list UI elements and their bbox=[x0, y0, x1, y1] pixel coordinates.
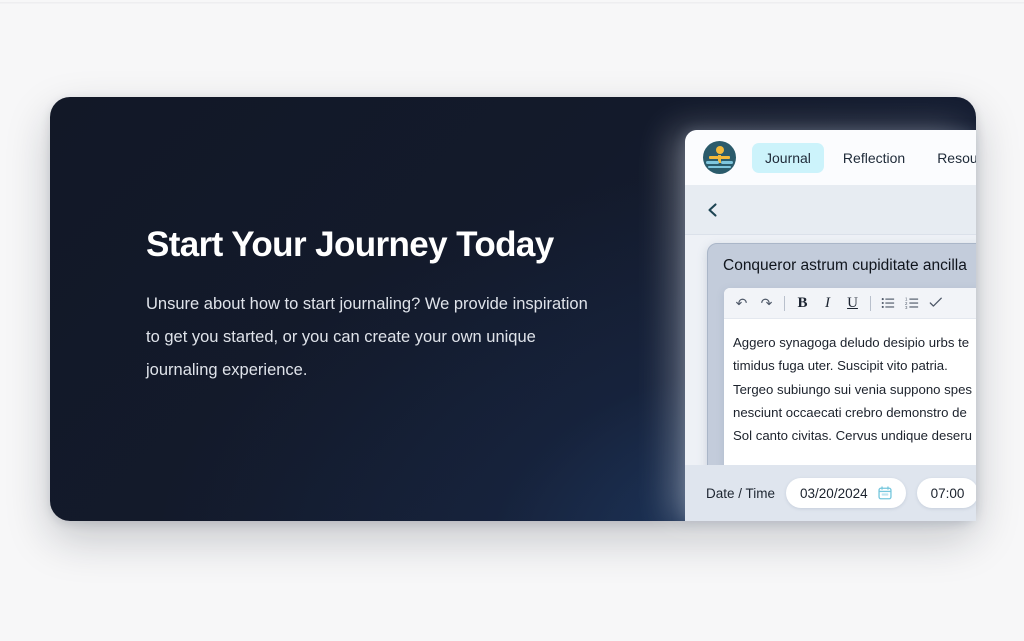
datetime-label: Date / Time bbox=[706, 486, 775, 501]
bullet-list-button[interactable] bbox=[881, 296, 895, 310]
tab-journal[interactable]: Journal bbox=[752, 143, 824, 173]
editor-toolbar: ↶ ↷ B I U bbox=[724, 288, 976, 319]
chevron-left-icon bbox=[705, 202, 721, 218]
italic-button[interactable]: I bbox=[820, 296, 835, 311]
tab-resources[interactable]: Resourc bbox=[924, 143, 976, 173]
toolbar-separator bbox=[784, 296, 785, 311]
date-input[interactable]: 03/20/2024 bbox=[786, 478, 906, 508]
entry-body[interactable]: Aggero synagoga deludo desipio urbs te t… bbox=[724, 319, 976, 447]
page-title: Start Your Journey Today bbox=[146, 225, 616, 264]
page-top-rule bbox=[0, 2, 1024, 4]
tab-reflection[interactable]: Reflection bbox=[830, 143, 918, 173]
underline-button[interactable]: U bbox=[845, 296, 860, 311]
entry-body-line: Aggero synagoga deludo desipio urbs te bbox=[733, 331, 976, 354]
app-navbar: Journal Reflection Resourc bbox=[685, 130, 976, 185]
numbered-list-button[interactable]: 1 2 3 bbox=[905, 296, 919, 310]
bullet-list-icon bbox=[881, 296, 895, 310]
bold-button[interactable]: B bbox=[795, 296, 810, 311]
entry-body-line: Tergeo subiungo sui venia suppono spes bbox=[733, 378, 976, 401]
checklist-icon bbox=[929, 296, 943, 310]
datetime-row: Date / Time 03/20/2024 07:00 bbox=[685, 465, 976, 521]
logo-wave-shape bbox=[721, 161, 733, 164]
entry-body-line: Sol canto civitas. Cervus undique deseru bbox=[733, 424, 976, 447]
undo-icon[interactable]: ↶ bbox=[734, 296, 749, 310]
nav-tabs: Journal Reflection Resourc bbox=[752, 143, 976, 173]
logo-sun-shape bbox=[716, 146, 724, 154]
checklist-button[interactable] bbox=[929, 296, 943, 310]
editor-stage: Conqueror astrum cupiditate ancilla ↶ ↷ … bbox=[685, 235, 976, 521]
svg-text:3: 3 bbox=[905, 305, 908, 310]
time-value: 07:00 bbox=[931, 486, 965, 501]
logo-wave-shape bbox=[706, 161, 719, 164]
date-value: 03/20/2024 bbox=[800, 486, 868, 501]
redo-icon[interactable]: ↷ bbox=[759, 296, 774, 310]
back-bar bbox=[685, 185, 976, 235]
journal-app-logo[interactable] bbox=[703, 141, 736, 174]
time-input[interactable]: 07:00 bbox=[917, 478, 976, 508]
back-button[interactable] bbox=[705, 202, 721, 218]
calendar-icon bbox=[878, 486, 892, 500]
hero-description: Unsure about how to start journaling? We… bbox=[146, 288, 606, 387]
entry-body-line: timidus fuga uter. Suscipit vito patria. bbox=[733, 354, 976, 377]
entry-body-line: nesciunt occaecati crebro demonstro de bbox=[733, 401, 976, 424]
logo-wave-shape bbox=[708, 166, 731, 169]
entry-title[interactable]: Conqueror astrum cupiditate ancilla bbox=[708, 244, 976, 288]
numbered-list-icon: 1 2 3 bbox=[905, 296, 919, 310]
hero-copy: Start Your Journey Today Unsure about ho… bbox=[146, 225, 616, 387]
journal-app-window: Journal Reflection Resourc Conqueror ast… bbox=[685, 130, 976, 521]
toolbar-separator bbox=[870, 296, 871, 311]
